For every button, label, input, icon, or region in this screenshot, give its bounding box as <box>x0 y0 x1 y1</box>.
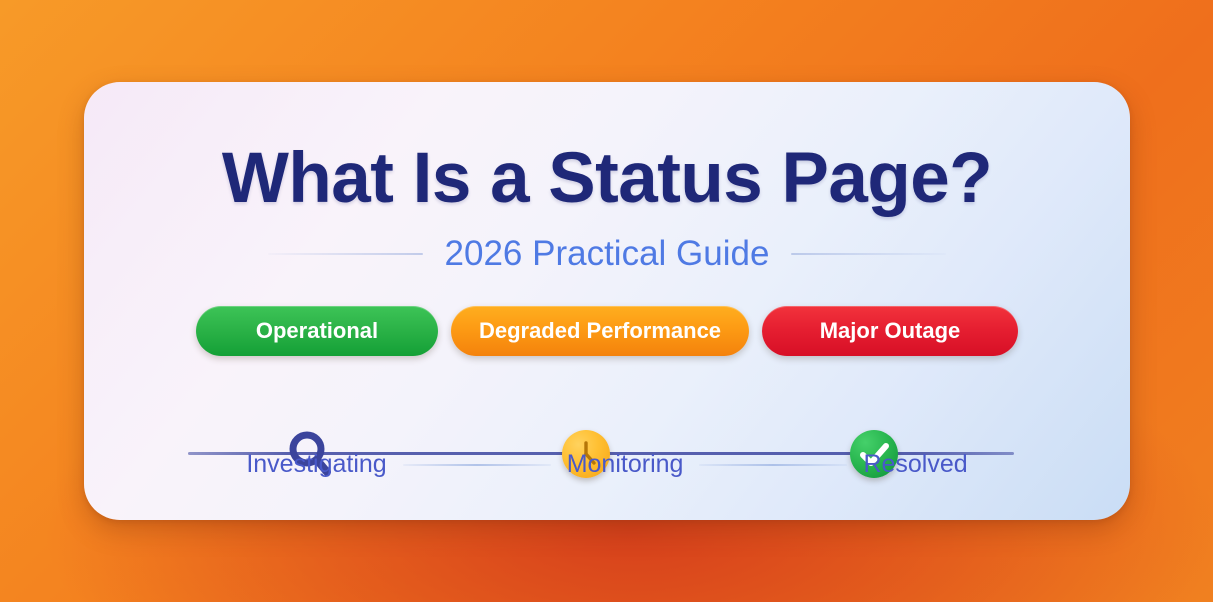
status-pill-operational[interactable]: Operational <box>196 306 438 356</box>
timeline-label-investigating: Investigating <box>246 450 386 479</box>
subtitle-rule-left <box>268 253 423 255</box>
subtitle-rule-right <box>791 253 946 255</box>
page-title: What Is a Status Page? <box>84 138 1130 219</box>
status-pill-degraded-performance-label: Degraded Performance <box>479 318 721 344</box>
timeline-label-row: Investigating Monitoring Resolved <box>84 450 1130 479</box>
status-pill-operational-label: Operational <box>256 318 378 344</box>
page-subtitle: 2026 Practical Guide <box>445 234 770 274</box>
status-pill-major-outage-label: Major Outage <box>820 318 961 344</box>
poster-background: What Is a Status Page? 2026 Practical Gu… <box>0 0 1213 602</box>
status-page-card: What Is a Status Page? 2026 Practical Gu… <box>84 82 1130 520</box>
status-pill-major-outage[interactable]: Major Outage <box>762 306 1018 356</box>
timeline-label-monitoring: Monitoring <box>567 450 684 479</box>
timeline-label-resolved: Resolved <box>863 450 967 479</box>
timeline-label-rule-2 <box>699 464 847 466</box>
timeline-label-rule-1 <box>403 464 551 466</box>
status-pill-row: Operational Degraded Performance Major O… <box>84 306 1130 356</box>
status-pill-degraded-performance[interactable]: Degraded Performance <box>451 306 749 356</box>
subtitle-row: 2026 Practical Guide <box>84 234 1130 274</box>
